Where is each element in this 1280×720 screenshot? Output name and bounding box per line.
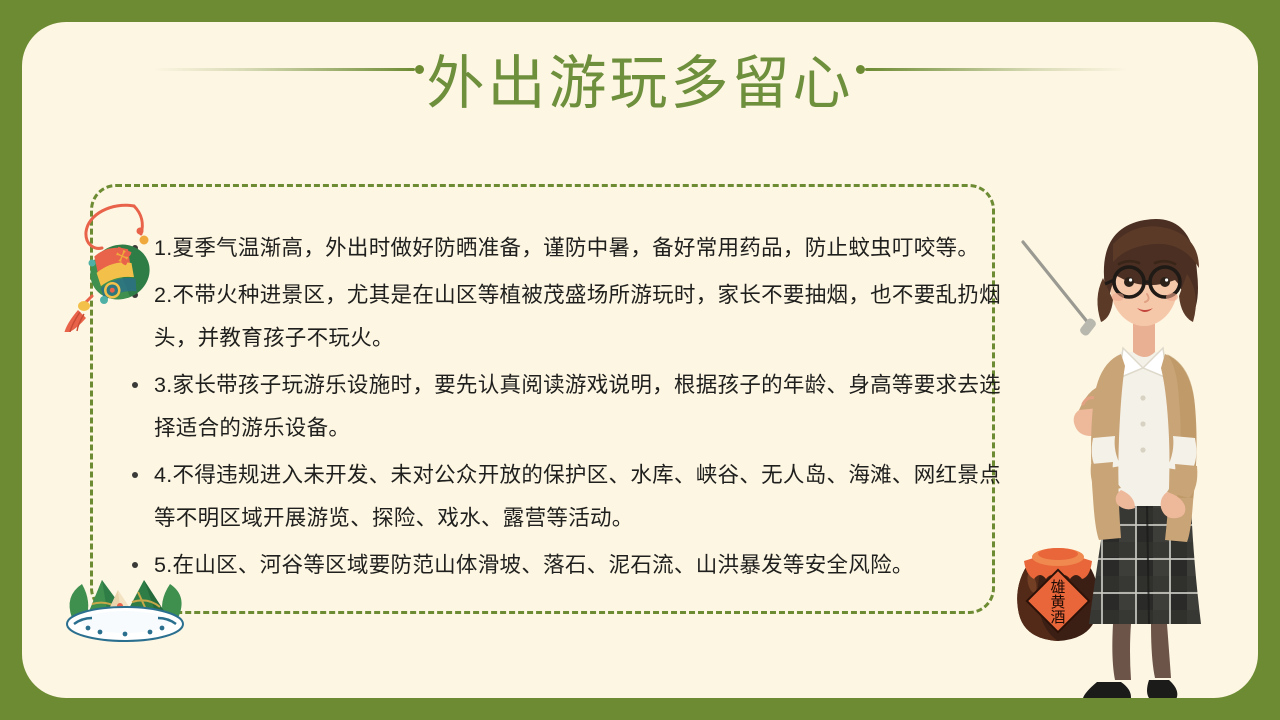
list-item: 5.在山区、河谷等区域要防范山体滑坡、落石、泥石流、山洪暴发等安全风险。	[132, 544, 1022, 587]
title-rule-right	[856, 67, 1128, 71]
bullet-dot-icon	[132, 382, 138, 388]
list-item-text: 4.不得违规进入未开发、未对公众开放的保护区、水库、峡谷、无人岛、海滩、网红景点…	[154, 454, 1022, 540]
list-item: 1.夏季气温渐高，外出时做好防晒准备，谨防中暑，备好常用药品，防止蚊虫叮咬等。	[132, 227, 1022, 270]
title-rule-left-dot	[415, 65, 424, 74]
list-item-text: 1.夏季气温渐高，外出时做好防晒准备，谨防中暑，备好常用药品，防止蚊虫叮咬等。	[154, 227, 1022, 270]
title-rule-left-bar	[152, 68, 415, 71]
safety-tips-list: 1.夏季气温渐高，外出时做好防晒准备，谨防中暑，备好常用药品，防止蚊虫叮咬等。 …	[132, 227, 1022, 591]
page-title: 外出游玩多留心	[360, 50, 920, 118]
list-item-text: 5.在山区、河谷等区域要防范山体滑坡、落石、泥石流、山洪暴发等安全风险。	[154, 544, 1022, 587]
list-item-text: 2.不带火种进景区，尤其是在山区等植被茂盛场所游玩时，家长不要抽烟，也不要乱扔烟…	[154, 274, 1022, 360]
slide-canvas: 外出游玩多留心 1.夏季气温渐高，外出时做好防晒准备，谨防中暑，备好常用药品，防…	[0, 0, 1280, 720]
bullet-dot-icon	[132, 472, 138, 478]
teacher-illustration	[1017, 202, 1258, 698]
sachet-ornament-icon	[62, 200, 180, 332]
title-rule-right-dot	[856, 65, 865, 74]
list-item-text: 3.家长带孩子玩游乐设施时，要先认真阅读游戏说明，根据孩子的年龄、身高等要求去选…	[154, 364, 1022, 450]
title-rule-left	[152, 67, 424, 71]
page-title-block: 外出游玩多留心	[22, 50, 1258, 118]
title-rule-right-bar	[865, 68, 1128, 71]
list-item: 3.家长带孩子玩游乐设施时，要先认真阅读游戏说明，根据孩子的年龄、身高等要求去选…	[132, 364, 1022, 450]
list-item: 2.不带火种进景区，尤其是在山区等植被茂盛场所游玩时，家长不要抽烟，也不要乱扔烟…	[132, 274, 1022, 360]
zongzi-plate-icon	[54, 544, 196, 648]
slide-panel: 外出游玩多留心 1.夏季气温渐高，外出时做好防晒准备，谨防中暑，备好常用药品，防…	[22, 22, 1258, 698]
list-item: 4.不得违规进入未开发、未对公众开放的保护区、水库、峡谷、无人岛、海滩、网红景点…	[132, 454, 1022, 540]
